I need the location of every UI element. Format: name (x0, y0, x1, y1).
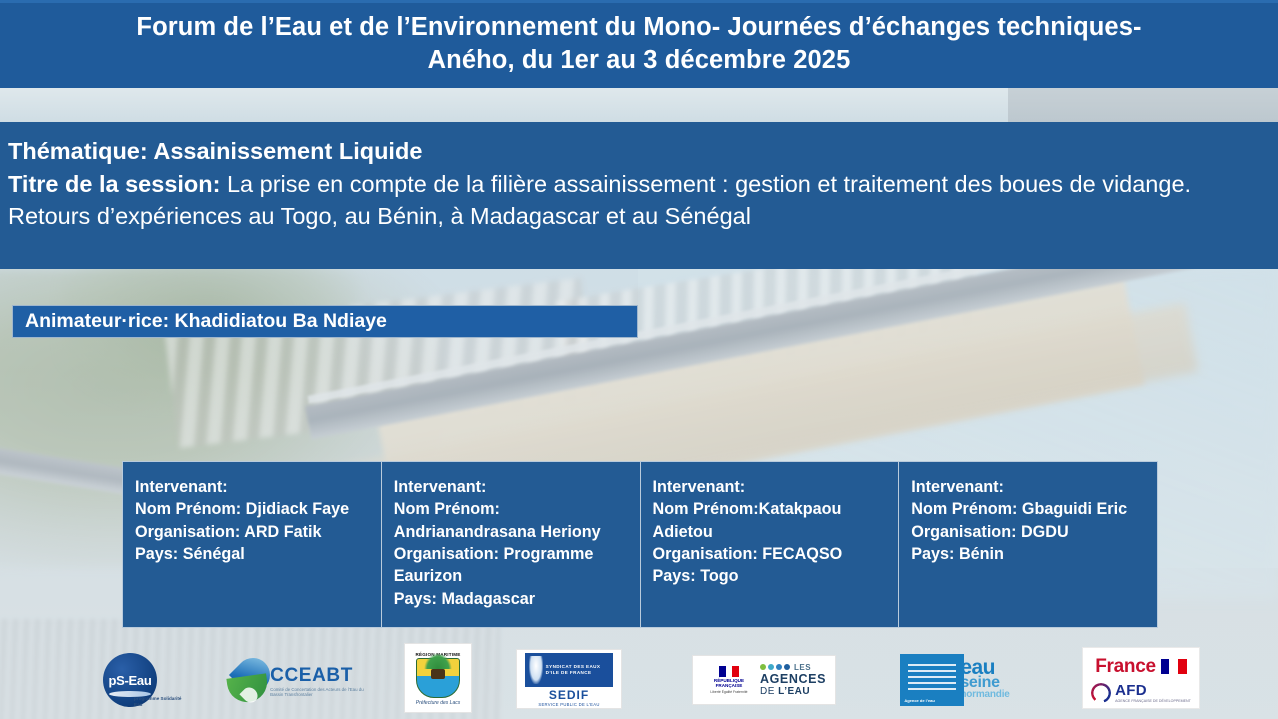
theme-band: Thématique: Assainissement Liquide Titre… (0, 122, 1278, 269)
flag-blue-stripe (719, 666, 726, 677)
logo-bar: pS-Eau programme Solidarité Eau CCEABT C… (0, 639, 1278, 719)
sedif-box-text: SYNDICAT DES EAUX D’ILE DE FRANCE (546, 664, 609, 676)
speaker-country: Pays: Bénin (911, 543, 1147, 565)
afd-block: AFD AGENCE FRANÇAISE DE DÉVELOPPEMENT (1091, 683, 1191, 703)
esn-line-3: normandie (960, 690, 1009, 700)
region-maritime-logo: RÉGION MARITIME Préfecture des Lacs (404, 643, 472, 713)
agences-de-label: DE (760, 686, 775, 697)
water-carrier-icon (529, 656, 543, 684)
speaker-country: Pays: Togo (653, 565, 889, 587)
agences-text-block: LES AGENCES DE L’EAU (760, 663, 826, 697)
page-title: Forum de l’Eau et de l’Environnement du … (112, 11, 1165, 76)
session-line: Titre de la session: La prise en compte … (8, 169, 1278, 232)
moderator-text: Animateur·rice: Khadidiatou Ba Ndiaye (25, 310, 387, 333)
france-label: France (1095, 656, 1156, 678)
slide-root: Forum de l’Eau et de l’Environnement du … (0, 0, 1278, 719)
flag-red-stripe (732, 666, 739, 677)
crest-emblem-icon (431, 669, 445, 679)
france-block: France (1095, 656, 1187, 678)
speaker-organisation-cont: Eaurizon (394, 565, 630, 587)
speaker-organisation: Organisation: Programme (394, 543, 630, 565)
region-maritime-crest-icon (416, 658, 460, 698)
republique-label: RÉPUBLIQUE FRANÇAISE (702, 678, 756, 689)
moderator-bar: Animateur·rice: Khadidiatou Ba Ndiaye (12, 305, 638, 338)
speaker-name: Nom Prénom:Katakpaou (653, 498, 889, 520)
agences-line-2: DE L’EAU (760, 686, 826, 697)
agences-leau-label: L’EAU (778, 686, 810, 697)
cceabt-tagline: Comité de Concertation des Acteurs de l’… (270, 687, 378, 698)
speakers-row: Intervenant: Nom Prénom: Djidiack Faye O… (122, 461, 1158, 628)
speaker-country: Pays: Sénégal (135, 543, 371, 565)
agences-line-1: AGENCES (760, 673, 826, 686)
speaker-country: Pays: Madagascar (394, 588, 630, 610)
esn-sub-label: Agence de l’eau (904, 698, 934, 703)
afd-text: AFD AGENCE FRANÇAISE DE DÉVELOPPEMENT (1115, 683, 1191, 703)
afd-label: AFD (1115, 683, 1191, 698)
dot-cyan-icon (768, 664, 774, 670)
cceabt-name: CCEABT (270, 665, 378, 687)
region-maritime-bottom-text: Préfecture des Lacs (416, 700, 460, 706)
ps-eau-logo: pS-Eau programme Solidarité Eau (78, 649, 182, 711)
speaker-heading: Intervenant: (394, 476, 630, 498)
cceabt-droplet-icon (228, 658, 264, 704)
speaker-card-1: Intervenant: Nom Prénom: Djidiack Faye O… (123, 462, 382, 627)
esn-waves-icon (908, 662, 956, 690)
cceabt-text: CCEABT Comité de Concertation des Acteur… (270, 665, 378, 698)
sedif-emblem: SYNDICAT DES EAUX D’ILE DE FRANCE (525, 653, 613, 687)
agences-de-leau-logo: RÉPUBLIQUE FRANÇAISE Liberté Égalité Fra… (692, 655, 836, 705)
dot-blue-icon (776, 664, 782, 670)
afd-sub-label: AGENCE FRANÇAISE DE DÉVELOPPEMENT (1115, 699, 1191, 703)
session-label: Titre de la session: (8, 171, 220, 197)
speaker-name-cont: Andrianandrasana Heriony (394, 521, 630, 543)
cceabt-logo: CCEABT Comité de Concertation des Acteur… (228, 655, 378, 707)
speaker-heading: Intervenant: (653, 476, 889, 498)
flag-red-stripe (1178, 659, 1187, 674)
france-flag-icon (1161, 659, 1187, 674)
thematic-line: Thématique: Assainissement Liquide (8, 136, 1278, 167)
speaker-name-cont: Adietou (653, 521, 889, 543)
esn-emblem-icon: Agence de l’eau (900, 654, 964, 706)
speaker-organisation: Organisation: ARD Fatik (135, 521, 371, 543)
header-title-line-1: Forum de l’Eau et de l’Environnement du … (136, 13, 1141, 41)
ps-eau-tagline: programme Solidarité Eau (134, 696, 184, 707)
header-top-rule (0, 0, 1278, 3)
speaker-heading: Intervenant: (135, 476, 371, 498)
speaker-name: Nom Prénom: Gbaguidi Eric (911, 498, 1147, 520)
france-afd-logo: France AFD AGENCE FRANÇAISE DE DÉVELOPPE… (1082, 647, 1200, 709)
sedif-tagline: SERVICE PUBLIC DE L’EAU (538, 702, 599, 707)
flag-white-stripe (726, 666, 733, 677)
sedif-logo: SYNDICAT DES EAUX D’ILE DE FRANCE SEDIF … (516, 649, 622, 709)
flag-white-stripe (1169, 659, 1178, 674)
agences-les-label: LES (794, 663, 811, 672)
afd-ring-icon (1091, 683, 1111, 703)
flag-blue-stripe (1161, 659, 1170, 674)
ps-eau-name: pS-Eau (109, 673, 152, 688)
esn-line-2: seine (960, 676, 1009, 690)
header-title-line-2: Aného, du 1er au 3 décembre 2025 (428, 46, 851, 74)
speaker-heading: Intervenant: (911, 476, 1147, 498)
speaker-organisation: Organisation: DGDU (911, 521, 1147, 543)
speaker-organisation: Organisation: FECAQSO (653, 543, 889, 565)
french-flag-icon (719, 666, 739, 677)
speaker-card-3: Intervenant: Nom Prénom:Katakpaou Adieto… (641, 462, 900, 627)
speaker-name: Nom Prénom: (394, 498, 630, 520)
sedif-name: SEDIF (549, 688, 589, 702)
eau-seine-normandie-logo: Agence de l’eau eau seine normandie (890, 651, 1020, 709)
dot-darkblue-icon (784, 664, 790, 670)
speaker-card-4: Intervenant: Nom Prénom: Gbaguidi Eric O… (899, 462, 1157, 627)
speaker-card-2: Intervenant: Nom Prénom: Andrianandrasan… (382, 462, 641, 627)
background-top-strip-right (1008, 88, 1278, 122)
header-banner: Forum de l’Eau et de l’Environnement du … (0, 0, 1278, 88)
crest-palm-icon (424, 653, 452, 669)
motto-label: Liberté Égalité Fraternité (710, 690, 747, 694)
dot-green-icon (760, 664, 766, 670)
agences-dots-icon: LES (760, 663, 826, 672)
speaker-name: Nom Prénom: Djidiack Faye (135, 498, 371, 520)
esn-text-block: eau seine normandie (960, 660, 1009, 700)
republique-francaise-block: RÉPUBLIQUE FRANÇAISE Liberté Égalité Fra… (702, 666, 756, 694)
